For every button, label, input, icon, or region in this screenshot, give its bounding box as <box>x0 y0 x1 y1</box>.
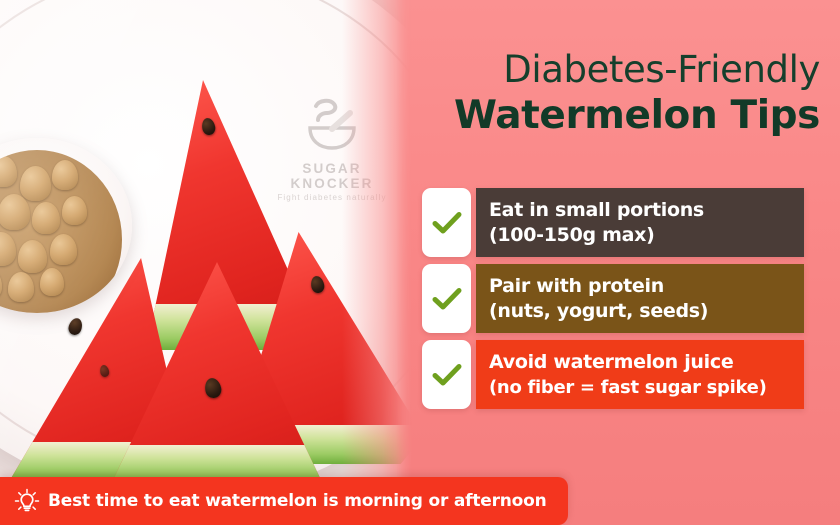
check-icon <box>432 287 462 311</box>
check-icon <box>432 363 462 387</box>
tip-3-line-2: (no fiber = fast sugar spike) <box>489 375 794 400</box>
check-card-1 <box>422 188 471 257</box>
title-line-2: Watermelon Tips <box>428 92 820 139</box>
tip-box-3: Avoid watermelon juice (no fiber = fast … <box>476 340 804 409</box>
tip-box-2: Pair with protein (nuts, yogurt, seeds) <box>476 264 804 333</box>
tip-item-3: Avoid watermelon juice (no fiber = fast … <box>422 340 804 409</box>
banner-text: Best time to eat watermelon is morning o… <box>48 491 547 511</box>
tips-list: Eat in small portions (100-150g max) Pai… <box>422 188 804 416</box>
check-icon <box>432 211 462 235</box>
lightbulb-icon <box>10 488 44 514</box>
tip-2-line-2: (nuts, yogurt, seeds) <box>489 299 794 324</box>
tip-3-line-1: Avoid watermelon juice <box>489 350 794 375</box>
tip-2-line-1: Pair with protein <box>489 274 794 299</box>
tip-1-line-2: (100-150g max) <box>489 223 794 248</box>
tip-box-1: Eat in small portions (100-150g max) <box>476 188 804 257</box>
page-title: Diabetes-Friendly Watermelon Tips <box>428 48 820 139</box>
infographic-canvas: SUGAR KNOCKER Fight diabetes naturally D… <box>0 0 840 525</box>
tip-item-1: Eat in small portions (100-150g max) <box>422 188 804 257</box>
check-card-3 <box>422 340 471 409</box>
check-card-2 <box>422 264 471 333</box>
tip-item-2: Pair with protein (nuts, yogurt, seeds) <box>422 264 804 333</box>
nut-bowl-contents <box>0 150 122 313</box>
bottom-banner: Best time to eat watermelon is morning o… <box>0 477 568 525</box>
watermelon-photo: SUGAR KNOCKER Fight diabetes naturally <box>0 0 412 480</box>
title-line-1: Diabetes-Friendly <box>428 48 820 92</box>
tip-1-line-1: Eat in small portions <box>489 198 794 223</box>
